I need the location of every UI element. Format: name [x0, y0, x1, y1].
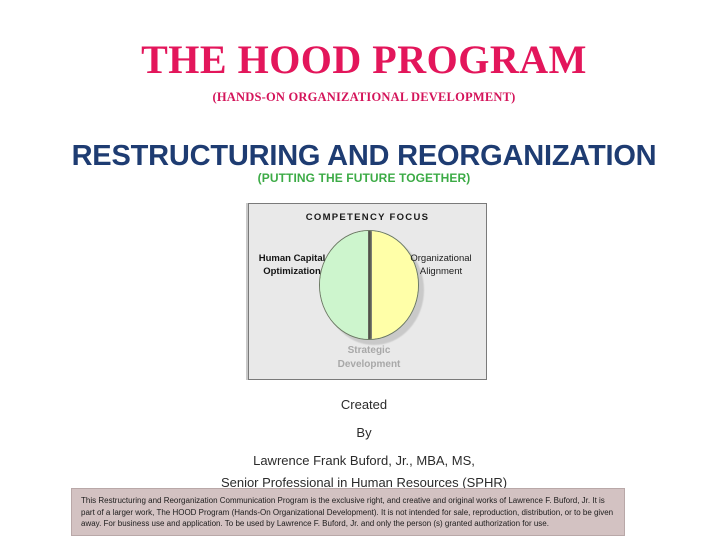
credits-created: Created — [0, 394, 728, 416]
circle-divider-bar-icon — [368, 231, 372, 339]
credits-by: By — [0, 422, 728, 444]
slide-canvas: THE HOOD PROGRAM (HANDS-ON ORGANIZATIONA… — [0, 0, 728, 546]
legal-disclaimer: This Restructuring and Reorganization Co… — [71, 488, 625, 536]
diagram-label-organizational-alignment-line1: Organizational — [400, 252, 482, 265]
circle-half-left-human-capital — [320, 231, 369, 339]
diagram-inner: COMPETENCY FOCUS Human Capital Optimizat… — [249, 204, 486, 379]
diagram-label-human-capital-line2: Optimization — [255, 265, 329, 278]
diagram-title: COMPETENCY FOCUS — [249, 212, 486, 223]
section-heading: RESTRUCTURING AND REORGANIZATION — [0, 140, 728, 172]
diagram-label-strategic-development-line2: Development — [307, 358, 431, 372]
split-circle-graphic — [319, 230, 419, 340]
diagram-label-strategic-development-line1: Strategic — [307, 344, 431, 358]
diagram-label-organizational-alignment-line2: Alignment — [400, 265, 482, 278]
diagram-label-strategic-development: Strategic Development — [307, 344, 431, 372]
credits-author-name: Lawrence Frank Buford, Jr., MBA, MS, — [0, 450, 728, 472]
circle-shape — [319, 230, 419, 340]
credits-block: Created By Lawrence Frank Buford, Jr., M… — [0, 394, 728, 494]
page-title: THE HOOD PROGRAM — [0, 38, 728, 82]
page-subtitle: (HANDS-ON ORGANIZATIONAL DEVELOPMENT) — [0, 90, 728, 105]
circle-half-right-organizational-alignment — [369, 231, 418, 339]
diagram-label-organizational-alignment: Organizational Alignment — [400, 252, 482, 278]
competency-focus-diagram: COMPETENCY FOCUS Human Capital Optimizat… — [248, 203, 487, 380]
diagram-label-human-capital-line1: Human Capital — [255, 252, 329, 265]
diagram-label-human-capital: Human Capital Optimization — [255, 252, 329, 278]
section-subheading: (PUTTING THE FUTURE TOGETHER) — [0, 171, 728, 185]
